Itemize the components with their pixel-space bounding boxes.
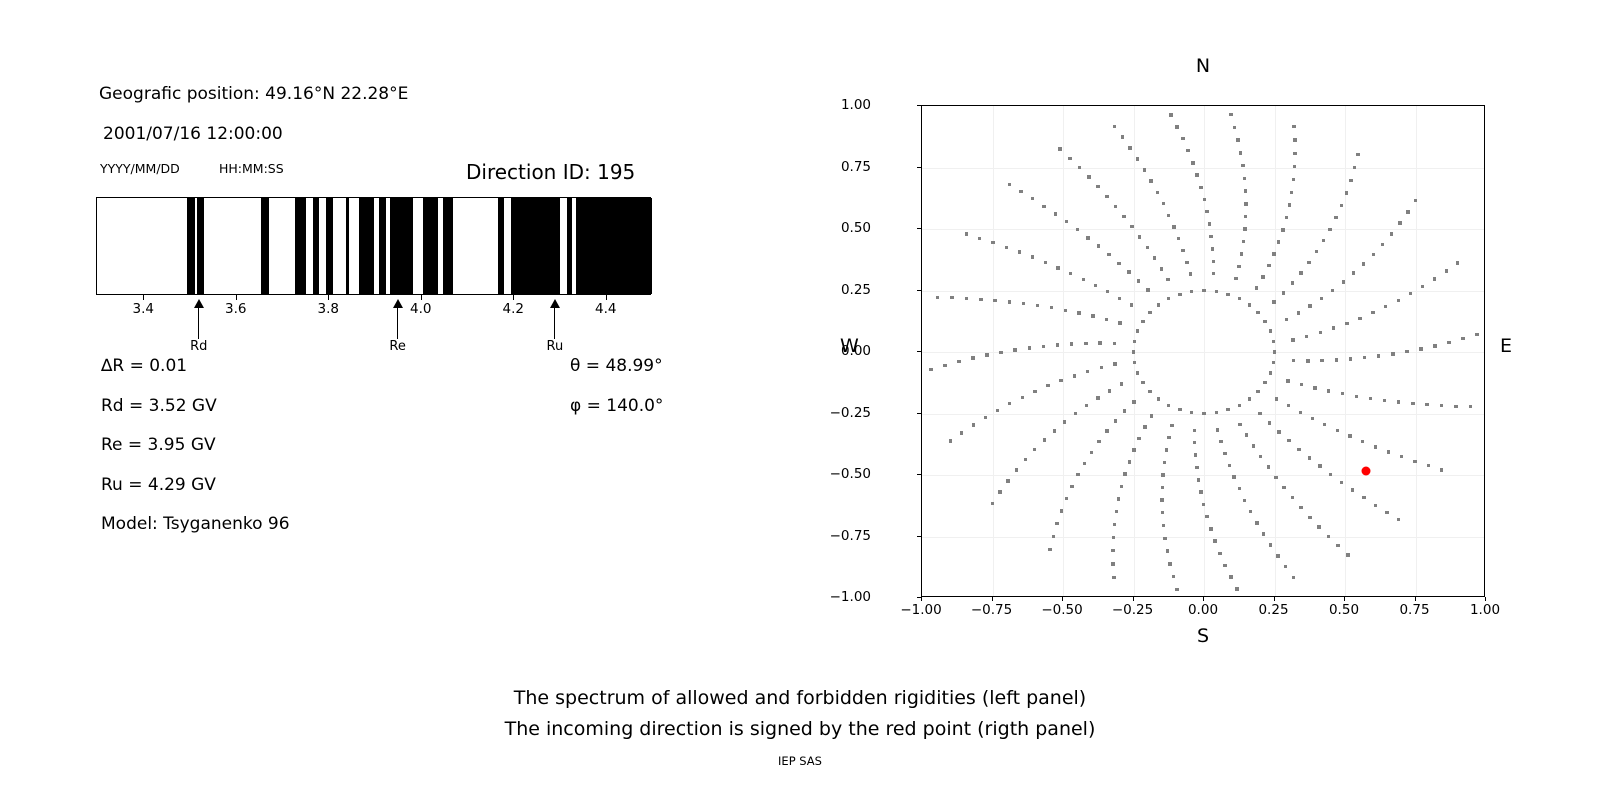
direction-point [936, 296, 939, 299]
direction-point [1008, 402, 1011, 405]
direction-point [1053, 429, 1056, 432]
horizontal-gridline [922, 475, 1484, 476]
direction-point [1132, 350, 1135, 353]
direction-point [1060, 509, 1063, 512]
direction-point [1336, 429, 1339, 432]
direction-point [1327, 535, 1330, 538]
geographic-position-label: Geografic position: 49.16°N 22.28°E [99, 84, 408, 104]
direction-point [1136, 157, 1139, 160]
x-tick-label: −0.50 [1041, 602, 1082, 618]
direction-point [1130, 303, 1133, 306]
direction-point [1363, 356, 1366, 359]
direction-point [1284, 565, 1287, 568]
direction-point [1146, 288, 1149, 291]
direction-point [1233, 126, 1236, 129]
vertical-gridline [1345, 106, 1346, 596]
direction-point [1243, 177, 1246, 180]
direction-point [1475, 333, 1478, 336]
direction-point [1161, 511, 1164, 514]
compass-label-south: S [1197, 625, 1209, 647]
direction-point [1269, 329, 1272, 332]
direction-point [1203, 198, 1206, 201]
direction-point [1286, 379, 1289, 382]
direction-point [1329, 473, 1332, 476]
direction-point [1308, 456, 1311, 459]
x-tick-label: −1.00 [900, 602, 941, 618]
forbidden-band [443, 198, 453, 294]
direction-point [1226, 408, 1229, 411]
direction-point [1406, 210, 1409, 213]
direction-point [1248, 303, 1251, 306]
direction-point [1189, 272, 1192, 275]
direction-point [1340, 481, 1343, 484]
direction-point [1272, 300, 1275, 303]
direction-point [1076, 228, 1079, 231]
x-tick-mark [1133, 597, 1134, 601]
direction-point [1106, 290, 1109, 293]
direction-point [1341, 392, 1344, 395]
x-tick-mark [1274, 597, 1275, 601]
direction-point [1105, 318, 1108, 321]
direction-point [1105, 429, 1108, 432]
horizontal-gridline [922, 229, 1484, 230]
direction-point [1115, 510, 1118, 513]
forbidden-band [346, 198, 349, 294]
direction-point [1267, 264, 1270, 267]
direction-point [1397, 400, 1400, 403]
direction-point [1167, 404, 1170, 407]
direction-point [1282, 291, 1285, 294]
rigidity-marker-ru: Ru [548, 295, 562, 347]
direction-point [1277, 430, 1280, 433]
direction-point [1169, 113, 1172, 116]
direction-point [1362, 496, 1365, 499]
direction-point [1440, 468, 1443, 471]
direction-point [1086, 370, 1089, 373]
direction-point [1306, 359, 1309, 362]
direction-point [1160, 498, 1163, 501]
direction-point [1068, 157, 1071, 160]
direction-point [1065, 497, 1068, 500]
x-tick-mark [328, 295, 329, 300]
direction-point [1292, 125, 1295, 128]
direction-point [1190, 411, 1193, 414]
direction-id-label: Direction ID: 195 [466, 160, 635, 184]
direction-point [1190, 290, 1193, 293]
direction-point [1055, 522, 1058, 525]
datetime-label: 2001/07/16 12:00:00 [103, 124, 283, 144]
direction-point [1177, 237, 1180, 240]
param-rd: Rd = 3.52 GV [101, 396, 217, 416]
direction-point [1165, 448, 1168, 451]
direction-point [1141, 381, 1144, 384]
direction-point [1063, 420, 1066, 423]
direction-point [1320, 359, 1323, 362]
x-tick-label: 3.4 [133, 301, 154, 317]
direction-point [1377, 354, 1380, 357]
direction-point [1113, 342, 1116, 345]
direction-point [1240, 252, 1243, 255]
direction-point [1311, 417, 1314, 420]
direction-point [1299, 411, 1302, 414]
direction-point [1272, 252, 1275, 255]
direction-point [1390, 232, 1393, 235]
y-tick-label: 0.25 [841, 282, 871, 298]
direction-point [1297, 311, 1300, 314]
direction-point [1259, 455, 1262, 458]
direction-point [1199, 186, 1202, 189]
direction-point [1031, 197, 1034, 200]
x-tick-label: 0.75 [1399, 602, 1429, 618]
direction-point [972, 423, 975, 426]
direction-point [1167, 297, 1170, 300]
direction-point [1212, 260, 1215, 263]
direction-point [1208, 222, 1211, 225]
x-tick-label: 0.25 [1258, 602, 1288, 618]
direction-point [1008, 300, 1011, 303]
direction-point [1361, 440, 1364, 443]
x-tick-label: 0.50 [1329, 602, 1359, 618]
direction-point [1162, 202, 1165, 205]
direction-point [1132, 448, 1135, 451]
direction-point [1107, 253, 1110, 256]
direction-point [1157, 303, 1160, 306]
direction-point [1352, 271, 1355, 274]
direction-point [1205, 515, 1208, 518]
direction-point [1181, 249, 1184, 252]
direction-point [1413, 460, 1416, 463]
direction-point [1059, 379, 1062, 382]
forbidden-band [187, 198, 195, 294]
direction-point [996, 409, 999, 412]
direction-point [929, 368, 932, 371]
marker-stem [198, 303, 200, 339]
direction-point [1345, 191, 1348, 194]
direction-point [1202, 503, 1205, 506]
direction-point [1293, 138, 1296, 141]
direction-point [1008, 183, 1011, 186]
direction-point [1216, 428, 1219, 431]
forbidden-band [576, 198, 652, 294]
direction-point [1212, 272, 1215, 275]
direction-point [1405, 350, 1408, 353]
direction-point [1138, 235, 1141, 238]
incoming-direction-point[interactable] [1362, 467, 1371, 476]
direction-point [1167, 436, 1170, 439]
direction-point [1046, 384, 1049, 387]
direction-point [1128, 146, 1131, 149]
scatter-plot-area [921, 105, 1485, 597]
time-format-hint: HH:MM:SS [219, 161, 284, 176]
direction-point [1195, 173, 1198, 176]
direction-point [1044, 261, 1047, 264]
asymptotic-direction-chart: N S W E −1.00−0.75−0.50−0.250.000.250.50… [830, 50, 1530, 650]
direction-point [1342, 280, 1345, 283]
x-tick-mark [1344, 597, 1345, 601]
marker-stem [554, 303, 556, 339]
spectrum-x-axis: 3.43.63.84.04.24.4RdReRu [96, 295, 653, 355]
direction-point [1447, 341, 1450, 344]
direction-point [1291, 338, 1294, 341]
direction-point [978, 237, 981, 240]
direction-point [1178, 293, 1181, 296]
y-tick-label: −0.25 [830, 405, 871, 421]
direction-point [1318, 464, 1321, 467]
direction-point [1028, 346, 1031, 349]
direction-point [1097, 244, 1100, 247]
marker-stem [397, 303, 399, 339]
y-tick-label: −1.00 [830, 589, 871, 605]
direction-point [1123, 409, 1126, 412]
direction-point [1185, 261, 1188, 264]
x-tick-label: 0.00 [1188, 602, 1218, 618]
direction-point [1237, 265, 1240, 268]
direction-point [1065, 220, 1068, 223]
direction-point [1215, 290, 1218, 293]
direction-point [1400, 455, 1403, 458]
direction-point [1096, 396, 1099, 399]
horizontal-gridline [922, 168, 1484, 169]
direction-point [1369, 397, 1372, 400]
direction-point [1320, 297, 1323, 300]
direction-point [1137, 437, 1140, 440]
x-tick-label: 3.8 [318, 301, 339, 317]
direction-point [1235, 587, 1238, 590]
direction-point [1015, 468, 1018, 471]
x-tick-mark [143, 295, 144, 300]
direction-point [950, 296, 953, 299]
direction-point [1157, 397, 1160, 400]
param-phi: φ = 140.0° [570, 396, 663, 416]
forbidden-band [390, 198, 414, 294]
direction-point [1328, 228, 1331, 231]
direction-point [985, 353, 988, 356]
direction-point [1351, 488, 1354, 491]
forbidden-band [567, 198, 571, 294]
direction-point [1178, 408, 1181, 411]
direction-point [1058, 147, 1061, 150]
direction-point [1070, 342, 1073, 345]
direction-point [1170, 424, 1173, 427]
direction-point [1252, 444, 1255, 447]
direction-point [1269, 371, 1272, 374]
direction-point [1371, 311, 1374, 314]
y-tick-label: 1.00 [841, 97, 871, 113]
direction-point [1120, 485, 1123, 488]
direction-point [1085, 404, 1088, 407]
direction-point [1213, 539, 1216, 542]
direction-point [1202, 412, 1205, 415]
direction-point [1290, 191, 1293, 194]
y-tick-label: 0.00 [841, 343, 871, 359]
direction-point [1238, 423, 1241, 426]
direction-point [965, 297, 968, 300]
direction-point [1100, 366, 1103, 369]
direction-point [1427, 464, 1430, 467]
direction-point [991, 502, 994, 505]
horizontal-gridline [922, 537, 1484, 538]
direction-point [1411, 402, 1414, 405]
x-tick-label: 4.4 [595, 301, 616, 317]
direction-point [1277, 240, 1280, 243]
compass-label-north: N [1196, 55, 1210, 77]
direction-point [1244, 189, 1247, 192]
direction-point [1087, 175, 1090, 178]
direction-point [1112, 536, 1115, 539]
direction-point [1381, 243, 1384, 246]
direction-point [1332, 326, 1335, 329]
direction-point [1391, 352, 1394, 355]
direction-point [1090, 451, 1093, 454]
direction-point [1036, 304, 1039, 307]
direction-point [1105, 195, 1108, 198]
direction-point [1276, 554, 1279, 557]
direction-point [1243, 227, 1246, 230]
direction-point [1064, 309, 1067, 312]
direction-point [1205, 210, 1208, 213]
direction-point [1323, 423, 1326, 426]
x-tick-mark [1485, 597, 1486, 601]
direction-point [1181, 137, 1184, 140]
direction-point [1113, 523, 1116, 526]
direction-point [1249, 510, 1252, 513]
direction-point [1149, 179, 1152, 182]
direction-point [1293, 165, 1296, 168]
direction-point [1308, 304, 1311, 307]
direction-point [1022, 302, 1025, 305]
direction-point [1209, 235, 1212, 238]
marker-label: Ru [547, 339, 564, 354]
direction-point [1239, 151, 1242, 154]
x-tick-mark [1203, 597, 1204, 601]
direction-point [1281, 228, 1284, 231]
direction-point [1033, 448, 1036, 451]
direction-point [1132, 400, 1135, 403]
y-tick-mark [917, 351, 921, 352]
direction-point [957, 360, 960, 363]
direction-point [1461, 337, 1464, 340]
direction-point [1128, 460, 1131, 463]
direction-point [1288, 203, 1291, 206]
vertical-gridline [1416, 106, 1417, 596]
direction-point [1033, 390, 1036, 393]
direction-point [1096, 185, 1099, 188]
direction-point [1097, 440, 1100, 443]
direction-point [1175, 125, 1178, 128]
direction-point [1384, 305, 1387, 308]
direction-point [1143, 168, 1146, 171]
direction-point [1084, 342, 1087, 345]
direction-point [1219, 440, 1222, 443]
direction-point [1226, 293, 1229, 296]
direction-point [1269, 543, 1272, 546]
forbidden-band [261, 198, 269, 294]
direction-point [1150, 414, 1153, 417]
direction-point [1313, 386, 1316, 389]
direction-point [979, 298, 982, 301]
direction-point [1346, 553, 1349, 556]
footer-credit: IEP SAS [0, 754, 1600, 768]
direction-point [1238, 404, 1241, 407]
direction-point [1238, 487, 1241, 490]
direction-point [1262, 532, 1265, 535]
forbidden-band [359, 198, 374, 294]
direction-point [1267, 465, 1270, 468]
direction-point [1292, 359, 1295, 362]
direction-point [1261, 275, 1264, 278]
direction-point [1122, 215, 1125, 218]
y-tick-mark [917, 536, 921, 537]
direction-point [1327, 389, 1330, 392]
direction-point [971, 356, 974, 359]
direction-point [1398, 221, 1401, 224]
x-tick-mark [236, 295, 237, 300]
direction-point [998, 490, 1001, 493]
rigidity-spectrum-chart [96, 197, 651, 295]
direction-point [1042, 345, 1045, 348]
direction-point [1336, 544, 1339, 547]
y-tick-mark [917, 290, 921, 291]
param-ru: Ru = 4.29 GV [101, 475, 216, 495]
direction-point [1244, 202, 1247, 205]
direction-point [1086, 236, 1089, 239]
param-model: Model: Tsyganenko 96 [101, 514, 290, 534]
direction-point [1167, 214, 1170, 217]
direction-point [1123, 472, 1126, 475]
direction-point [1308, 516, 1311, 519]
direction-point [1268, 421, 1271, 424]
direction-point [1121, 135, 1124, 138]
direction-point [1163, 461, 1166, 464]
direction-point [1194, 453, 1197, 456]
marker-label: Rd [190, 339, 207, 354]
direction-point [1445, 269, 1448, 272]
direction-point [1273, 350, 1276, 353]
direction-point [1018, 250, 1021, 253]
direction-point [1287, 439, 1290, 442]
direction-point [1285, 318, 1288, 321]
forbidden-band [498, 198, 504, 294]
direction-point [1372, 253, 1375, 256]
direction-point [1078, 166, 1081, 169]
rigidity-marker-rd: Rd [192, 295, 206, 347]
direction-point [1397, 518, 1400, 521]
direction-point [1113, 362, 1116, 365]
direction-point [1409, 292, 1412, 295]
direction-point [1054, 212, 1057, 215]
y-tick-mark [917, 167, 921, 168]
direction-point [1287, 404, 1290, 407]
direction-point [1274, 476, 1277, 479]
direction-point [1211, 247, 1214, 250]
direction-point [1175, 588, 1178, 591]
direction-point [1282, 486, 1285, 489]
direction-point [1456, 261, 1459, 264]
direction-point [1256, 390, 1259, 393]
direction-point [1263, 381, 1266, 384]
x-tick-mark [992, 597, 993, 601]
compass-label-east: E [1500, 335, 1512, 357]
direction-point [1440, 404, 1443, 407]
forbidden-band [197, 198, 204, 294]
direction-point [1349, 357, 1352, 360]
direction-point [1166, 549, 1169, 552]
direction-point [1021, 396, 1024, 399]
direction-point [1358, 317, 1361, 320]
direction-point [1425, 403, 1428, 406]
direction-point [1292, 178, 1295, 181]
direction-point [1229, 575, 1232, 578]
